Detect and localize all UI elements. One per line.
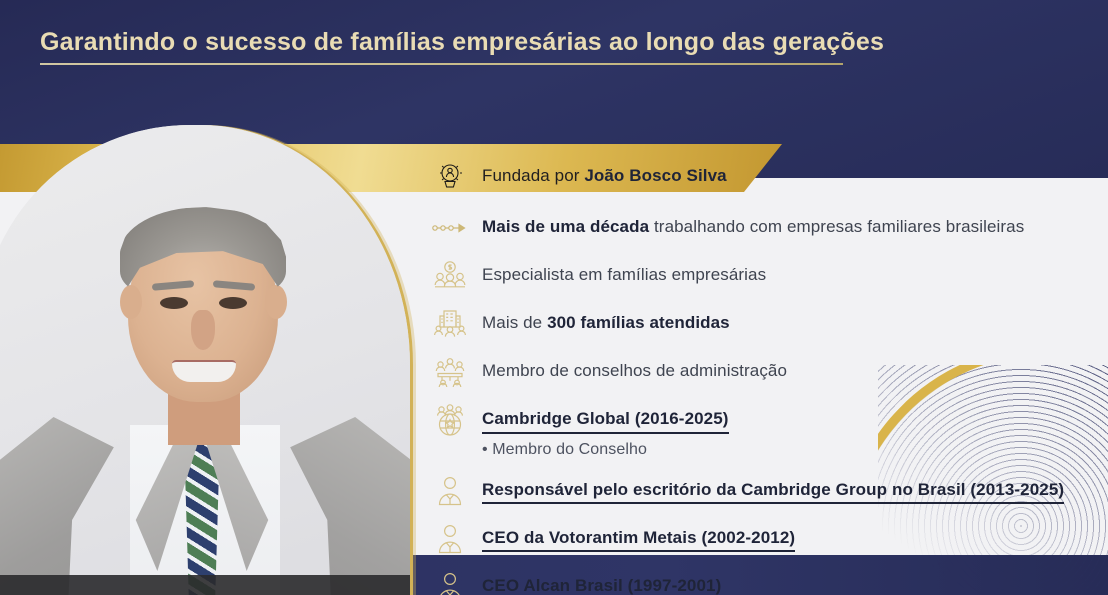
- executive-icon: [432, 473, 468, 509]
- list-item-text: Membro de conselhos de administração: [482, 354, 787, 383]
- family-money-icon: [432, 258, 468, 294]
- portrait-photo: [0, 125, 410, 595]
- credential-heading: CEO Alcan Brasil (1997-2001): [482, 575, 721, 595]
- list-item: Fundada por João Bosco Silva: [432, 152, 1092, 200]
- page-title: Garantindo o sucesso de famílias empresá…: [40, 28, 884, 57]
- list-item-text: CEO Alcan Brasil (1997-2001): [482, 569, 721, 595]
- list-item: Mais de 300 famílias atendidas: [432, 306, 1092, 342]
- credential-heading: CEO da Votorantim Metais (2002-2012): [482, 527, 795, 553]
- credential-heading: Cambridge Global (2016-2025): [482, 408, 729, 434]
- list-item: CEO Alcan Brasil (1997-2001): [432, 569, 1092, 595]
- list-item: Especialista em famílias empresárias: [432, 258, 1092, 294]
- building-family-icon: [432, 306, 468, 342]
- dotted-arrow-icon: [432, 210, 468, 246]
- list-item-text: Responsável pelo escritório da Cambridge…: [482, 473, 1064, 505]
- list-item: Cambridge Global (2016-2025) • Membro do…: [432, 402, 1092, 461]
- title-underline-rule: [40, 63, 843, 65]
- credential-heading: Responsável pelo escritório da Cambridge…: [482, 479, 1064, 505]
- list-item: Mais de uma década trabalhando com empre…: [432, 210, 1092, 246]
- list-item-text: Mais de uma década trabalhando com empre…: [482, 210, 1024, 239]
- list-item-text: CEO da Votorantim Metais (2002-2012): [482, 521, 795, 553]
- list-item-text: Fundada por João Bosco Silva: [482, 165, 727, 188]
- list-item: Responsável pelo escritório da Cambridge…: [432, 473, 1092, 509]
- list-item: Membro de conselhos de administração: [432, 354, 1092, 390]
- portrait-image: [0, 125, 410, 595]
- globe-people-icon: [432, 402, 468, 438]
- list-item-text: Mais de 300 famílias atendidas: [482, 306, 730, 335]
- executive-icon: [432, 521, 468, 557]
- credential-subtext: • Membro do Conselho: [482, 439, 729, 461]
- list-item: CEO da Votorantim Metais (2002-2012): [432, 521, 1092, 557]
- list-item-text: Especialista em famílias empresárias: [482, 258, 766, 287]
- slide-canvas: Garantindo o sucesso de famílias empresá…: [0, 0, 1108, 595]
- founder-badge-icon: [432, 158, 468, 194]
- credentials-list: Fundada por João Bosco Silva Mais de uma…: [432, 152, 1092, 595]
- boardroom-icon: [432, 354, 468, 390]
- list-item-text: Cambridge Global (2016-2025) • Membro do…: [482, 402, 729, 461]
- executive-icon: [432, 569, 468, 595]
